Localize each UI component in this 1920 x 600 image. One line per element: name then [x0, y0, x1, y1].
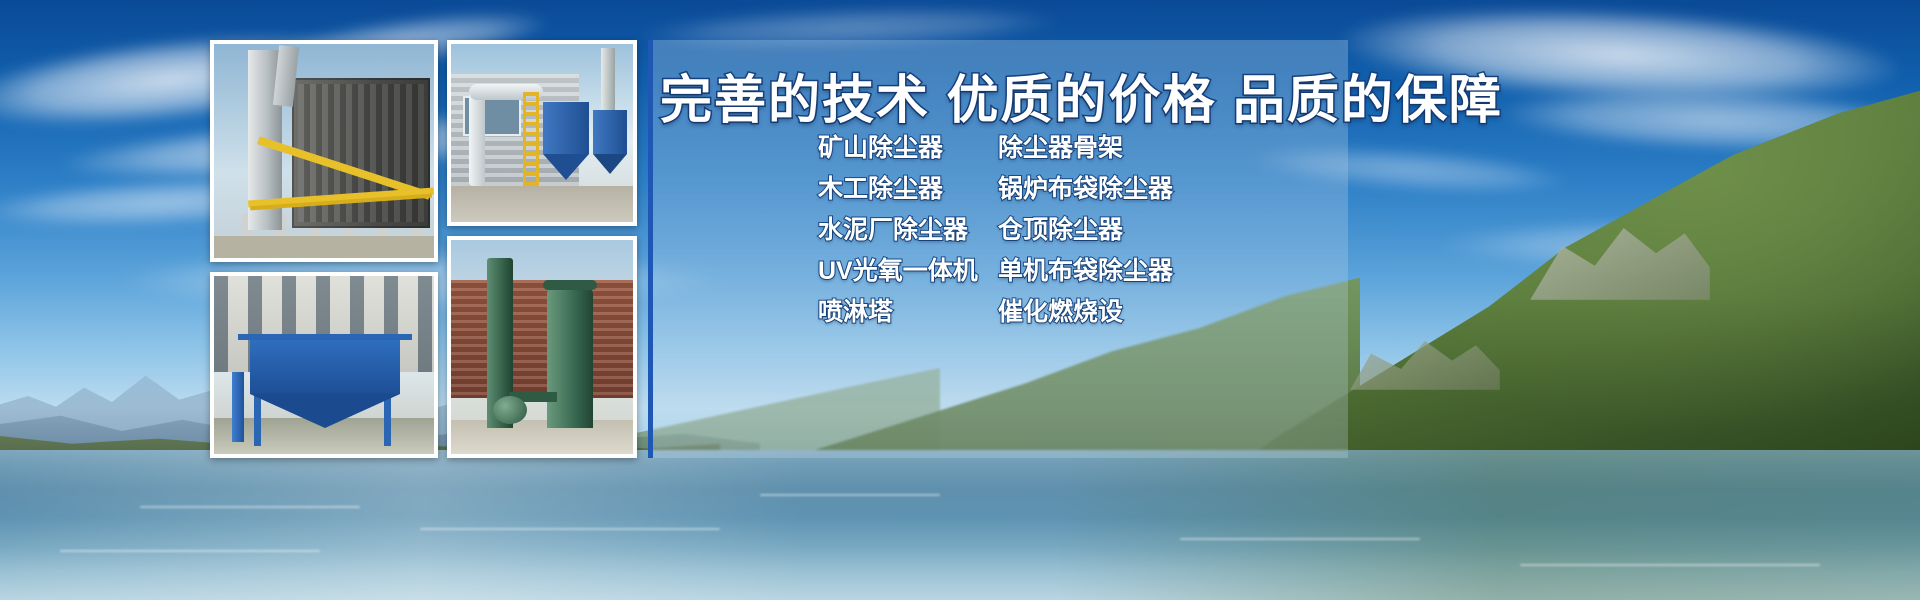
- product-list: 矿山除尘器 除尘器骨架 木工除尘器 锅炉布袋除尘器 水泥厂除尘器 仓顶除尘器 U…: [818, 128, 1358, 333]
- photo-tower: [547, 288, 593, 428]
- product-name: 喷淋塔: [818, 292, 998, 328]
- product-name: 除尘器骨架: [998, 128, 1123, 164]
- photo-pipe: [232, 372, 244, 442]
- water-ripple: [760, 494, 940, 496]
- photo-hopper: [543, 102, 589, 154]
- photo-brick-building: [451, 280, 633, 398]
- product-row: 水泥厂除尘器 仓顶除尘器: [818, 210, 1358, 251]
- photo-duct: [469, 88, 485, 186]
- product-row: 木工除尘器 锅炉布袋除尘器: [818, 169, 1358, 210]
- water-reflection: [0, 450, 1920, 600]
- product-photo: [210, 40, 438, 262]
- product-name: 锅炉布袋除尘器: [998, 169, 1173, 205]
- photo-collector-body: [250, 338, 400, 394]
- product-row: 矿山除尘器 除尘器骨架: [818, 128, 1358, 169]
- product-row: 喷淋塔 催化燃烧设: [818, 292, 1358, 333]
- product-name: UV光氧一体机: [818, 251, 998, 287]
- water-ripple: [60, 550, 320, 552]
- water-ripple: [1180, 538, 1420, 540]
- headline: 完善的技术 优质的价格 品质的保障: [660, 58, 1360, 133]
- product-name: 水泥厂除尘器: [818, 210, 998, 246]
- water-ripple: [1520, 564, 1820, 566]
- product-name: 单机布袋除尘器: [998, 251, 1173, 287]
- product-photo: [210, 272, 438, 458]
- product-name: 矿山除尘器: [818, 128, 998, 164]
- product-row: UV光氧一体机 单机布袋除尘器: [818, 251, 1358, 292]
- product-name: 仓顶除尘器: [998, 210, 1123, 246]
- promo-banner: 完善的技术 优质的价格 品质的保障 矿山除尘器 除尘器骨架 木工除尘器 锅炉布袋…: [0, 0, 1920, 600]
- product-photo: [447, 40, 637, 226]
- photo-ground: [451, 186, 633, 222]
- product-photo: [447, 236, 637, 458]
- photo-ground: [214, 236, 434, 258]
- photo-ground: [451, 420, 633, 454]
- photo-drum: [493, 396, 527, 424]
- product-name: 催化燃烧设: [998, 292, 1123, 328]
- water-ripple: [140, 506, 360, 508]
- water-ripple: [420, 528, 720, 530]
- photo-frame-beam: [238, 334, 412, 340]
- photo-hopper: [593, 110, 627, 154]
- product-name: 木工除尘器: [818, 169, 998, 205]
